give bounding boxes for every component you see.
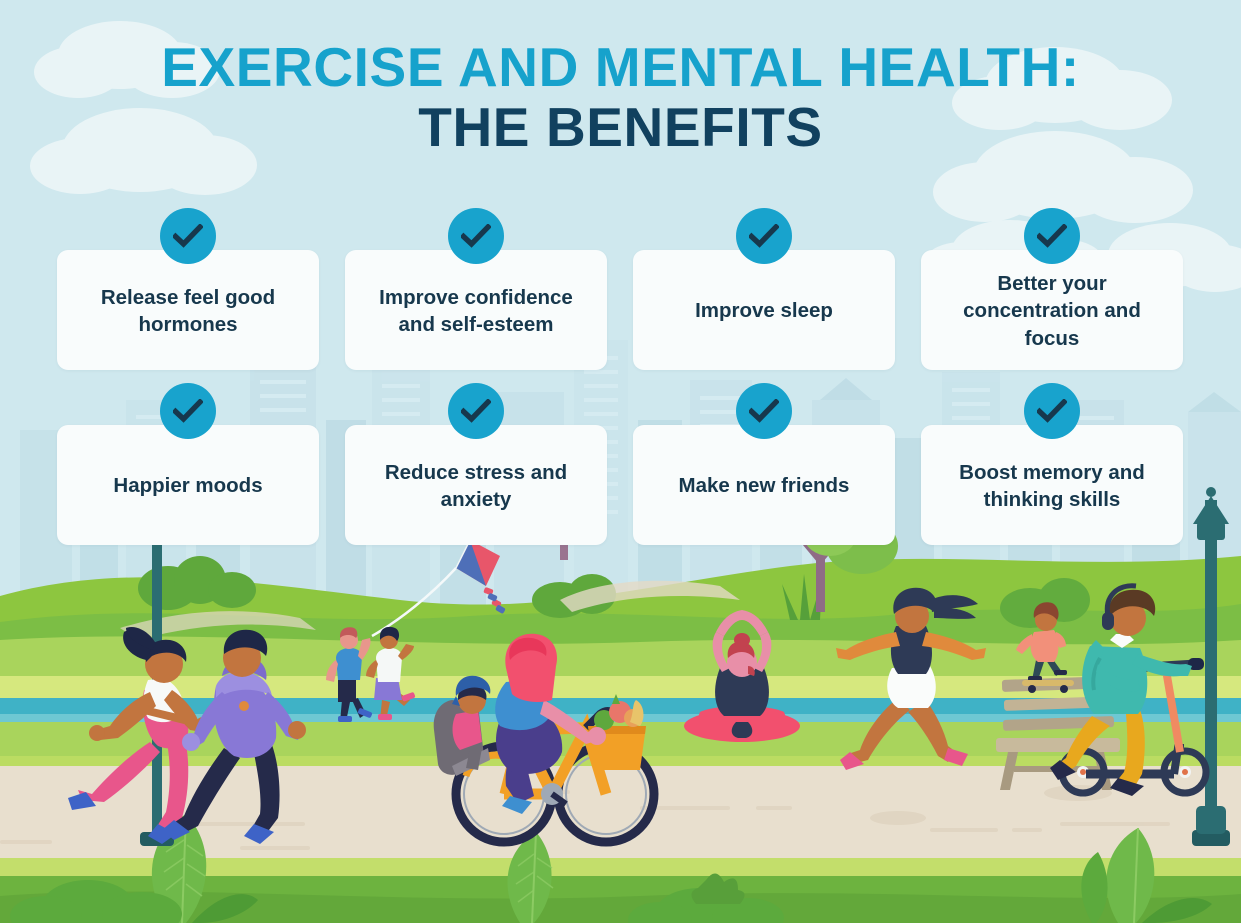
benefits-grid: Release feel good hormones Improve confi…: [57, 250, 1185, 545]
benefit-label: Improve sleep: [695, 297, 833, 324]
benefit-card-3[interactable]: Improve sleep: [633, 250, 895, 370]
check-icon: [1024, 383, 1080, 439]
title-line-2: THE BENEFITS: [0, 97, 1241, 159]
benefit-label: Release feel good hormones: [75, 284, 301, 338]
benefit-card-5[interactable]: Happier moods: [57, 425, 319, 545]
check-icon: [1024, 208, 1080, 264]
benefit-label: Make new friends: [679, 472, 850, 499]
check-icon: [448, 208, 504, 264]
benefit-card-7[interactable]: Make new friends: [633, 425, 895, 545]
benefit-label: Better your concentration and focus: [939, 270, 1165, 351]
benefit-label: Boost memory and thinking skills: [939, 459, 1165, 513]
infographic-canvas: EXERCISE AND MENTAL HEALTH: THE BENEFITS…: [0, 0, 1241, 923]
benefit-card-4[interactable]: Better your concentration and focus: [921, 250, 1183, 370]
benefit-card-8[interactable]: Boost memory and thinking skills: [921, 425, 1183, 545]
check-icon: [736, 383, 792, 439]
check-icon: [448, 383, 504, 439]
benefit-label: Improve confidence and self-esteem: [363, 284, 589, 338]
check-icon: [160, 208, 216, 264]
benefit-label: Happier moods: [113, 472, 262, 499]
benefit-card-1[interactable]: Release feel good hormones: [57, 250, 319, 370]
benefit-card-6[interactable]: Reduce stress and anxiety: [345, 425, 607, 545]
check-icon: [160, 383, 216, 439]
benefit-label: Reduce stress and anxiety: [363, 459, 589, 513]
check-icon: [736, 208, 792, 264]
page-title: EXERCISE AND MENTAL HEALTH: THE BENEFITS: [0, 38, 1241, 159]
title-line-1: EXERCISE AND MENTAL HEALTH:: [0, 38, 1241, 97]
benefit-card-2[interactable]: Improve confidence and self-esteem: [345, 250, 607, 370]
